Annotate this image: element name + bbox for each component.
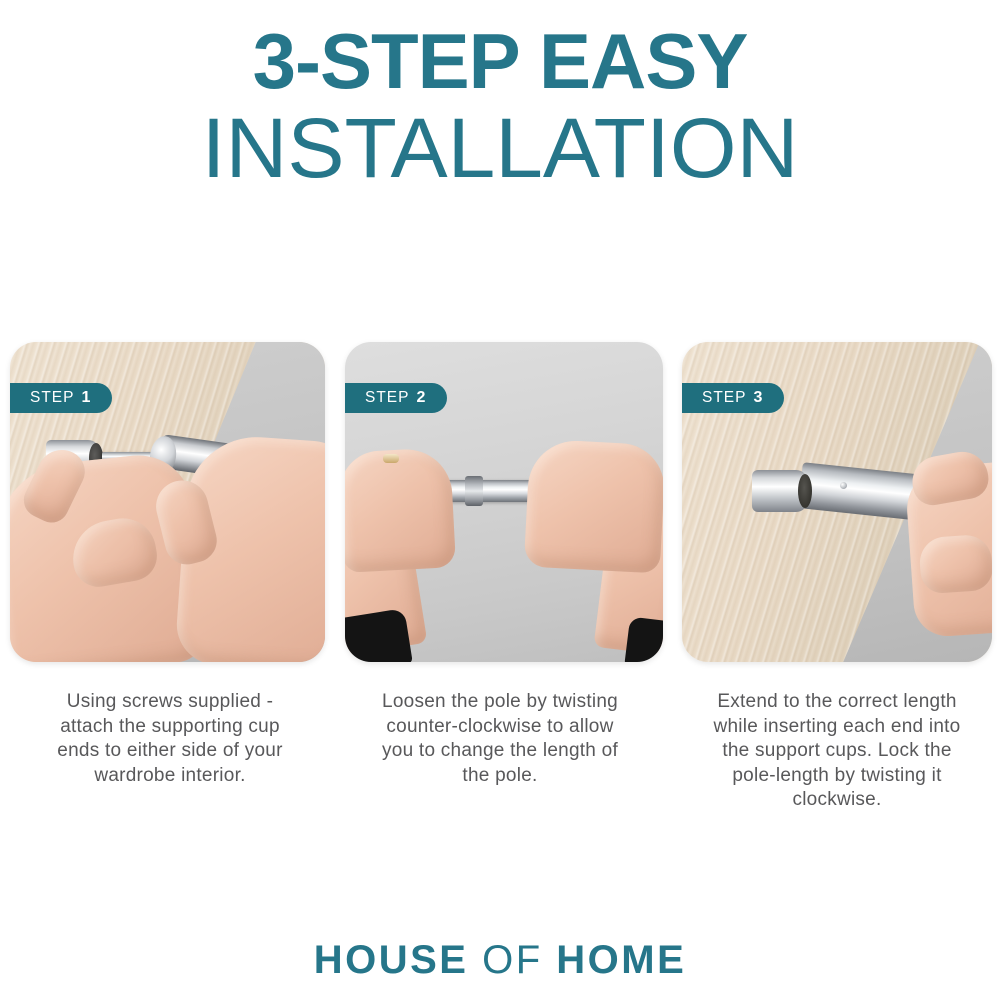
right-sleeve-cuff (624, 617, 663, 662)
page-title: 3-STEP EASY INSTALLATION (0, 18, 1000, 192)
logo-word-home: HOME (556, 938, 686, 982)
ring-icon (383, 454, 399, 463)
brand-logo: HOUSE OF HOME (0, 938, 1000, 983)
step-badge-label-2: STEP (365, 389, 409, 407)
cup-inner-face (798, 474, 812, 508)
step-panel-3: STEP 3 (682, 342, 992, 662)
step-captions: Using screws supplied - attach the suppo… (0, 690, 1000, 820)
right-fingers (918, 534, 992, 595)
step-panel-2: STEP 2 (345, 342, 663, 662)
step-badge-label-1: STEP (30, 389, 74, 407)
step-badge-3: STEP 3 (682, 383, 784, 413)
infographic-page: 3-STEP EASY INSTALLATION STEP (0, 0, 1000, 1000)
step-badge-1: STEP 1 (10, 383, 112, 413)
step-caption-3: Extend to the correct length while inser… (682, 690, 992, 813)
title-line-primary: 3-STEP EASY (0, 18, 1000, 104)
pole-joint-collar-icon (465, 476, 483, 506)
step-panels: STEP 1 STEP 2 (0, 342, 1000, 662)
step-panel-1: STEP 1 (10, 342, 325, 662)
logo-spacer-1 (468, 938, 482, 982)
logo-word-house: HOUSE (314, 938, 469, 982)
left-hand (345, 447, 456, 573)
pole-screw-icon (840, 482, 847, 489)
step-badge-number-2: 2 (416, 389, 425, 407)
step-badge-number-1: 1 (81, 389, 90, 407)
right-hand (524, 439, 663, 574)
title-line-secondary: INSTALLATION (0, 104, 1000, 192)
support-cup-icon (752, 470, 808, 512)
logo-word-of: OF (482, 938, 543, 982)
step-badge-2: STEP 2 (345, 383, 447, 413)
step-badge-label-3: STEP (702, 389, 746, 407)
step-caption-2: Loosen the pole by twisting counter-cloc… (350, 690, 650, 788)
left-sleeve-cuff (345, 608, 413, 662)
step-caption-1: Using screws supplied - attach the suppo… (20, 690, 320, 788)
step-badge-number-3: 3 (753, 389, 762, 407)
logo-spacer-2 (543, 938, 557, 982)
